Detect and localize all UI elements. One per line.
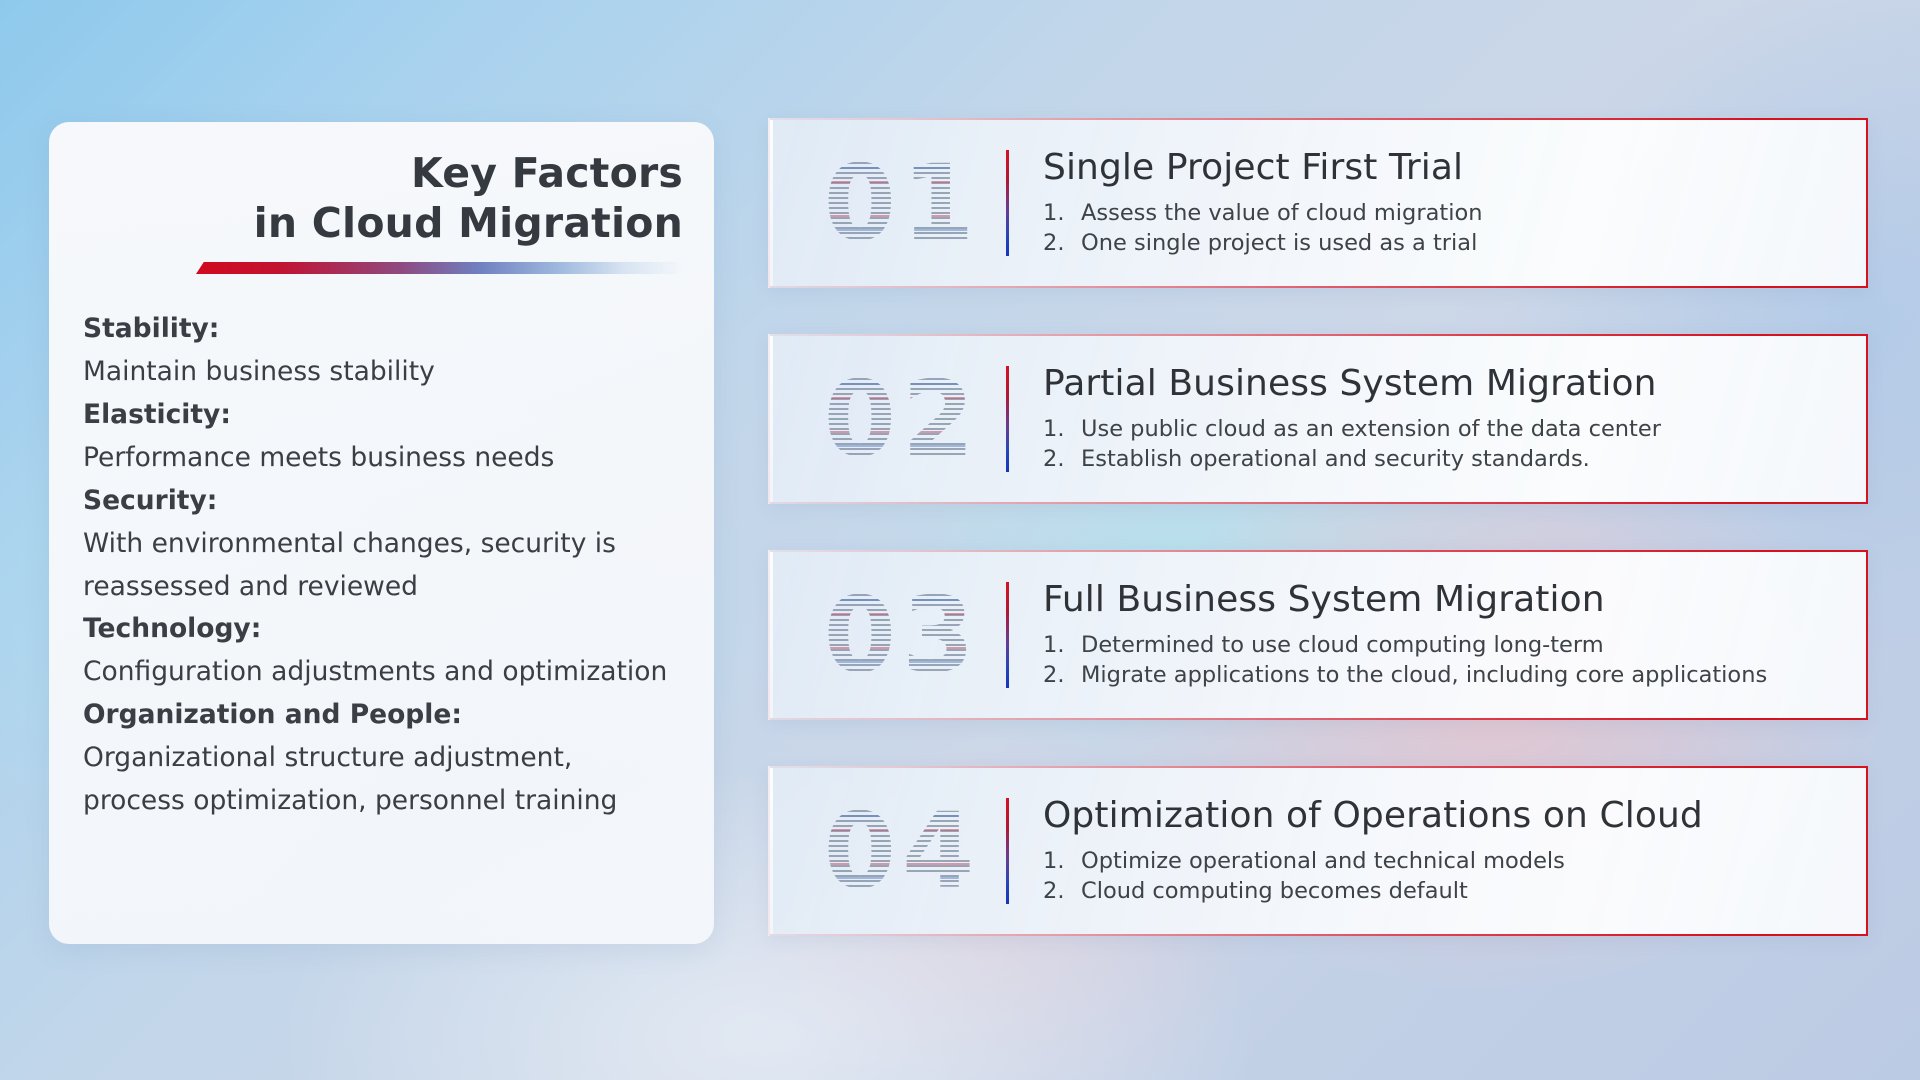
list-item: 1. Determined to use cloud computing lon…: [1043, 631, 1840, 661]
title-gradient-rule: [196, 262, 683, 274]
list-item: 2. Establish operational and security st…: [1043, 445, 1840, 475]
factor-label: Technology:: [83, 608, 680, 651]
factor-description: Configuration adjustments and optimizati…: [83, 651, 680, 694]
list-item-marker: 1.: [1043, 631, 1081, 661]
stage-content: Full Business System Migration 1. Determ…: [1043, 579, 1866, 691]
panel-title: Key Factors in Cloud Migration: [49, 122, 714, 248]
list-item-text: Determined to use cloud computing long-t…: [1081, 631, 1840, 661]
stage-title: Partial Business System Migration: [1043, 363, 1840, 405]
stage-number-02: 02 02 02: [804, 353, 1000, 485]
list-item-marker: 2.: [1043, 445, 1081, 475]
list-item: 2. One single project is used as a trial: [1043, 229, 1840, 259]
list-item-marker: 2.: [1043, 229, 1081, 259]
stage-divider-bar: [1006, 798, 1009, 904]
factor-item: Stability: Maintain business stability: [83, 308, 680, 394]
factor-item: Organization and People: Organizational …: [83, 694, 680, 823]
stage-content: Optimization of Operations on Cloud 1. O…: [1043, 795, 1866, 907]
stage-number-glyph-blue-accent: 04: [804, 785, 1000, 917]
list-item-text: Cloud computing becomes default: [1081, 877, 1840, 907]
stage-card-03[interactable]: 03 03 03 Full Business System Migration …: [768, 550, 1868, 720]
factor-description: Performance meets business needs: [83, 437, 680, 480]
list-item-text: Migrate applications to the cloud, inclu…: [1081, 661, 1840, 691]
factor-label: Organization and People:: [83, 694, 680, 737]
factor-description: Maintain business stability: [83, 351, 680, 394]
factors-list: Stability: Maintain business stability E…: [49, 274, 714, 823]
list-item: 1. Optimize operational and technical mo…: [1043, 847, 1840, 877]
stage-card-04[interactable]: 04 04 04 Optimization of Operations on C…: [768, 766, 1868, 936]
stage-title: Single Project First Trial: [1043, 147, 1840, 189]
list-item-marker: 1.: [1043, 847, 1081, 877]
factor-label: Elasticity:: [83, 394, 680, 437]
list-item: 2. Cloud computing becomes default: [1043, 877, 1840, 907]
list-item-marker: 2.: [1043, 877, 1081, 907]
stage-content: Partial Business System Migration 1. Use…: [1043, 363, 1866, 475]
stage-number-glyph-blue-accent: 03: [804, 569, 1000, 701]
list-item-marker: 2.: [1043, 661, 1081, 691]
list-item-text: Use public cloud as an extension of the …: [1081, 415, 1840, 445]
list-item: 1. Use public cloud as an extension of t…: [1043, 415, 1840, 445]
stage-divider-bar: [1006, 366, 1009, 472]
factor-label: Stability:: [83, 308, 680, 351]
stage-number-01: 01 01 01: [804, 137, 1000, 269]
migration-stages: 01 01 01 Single Project First Trial 1. A…: [768, 118, 1868, 982]
stage-bullet-list: 1. Optimize operational and technical mo…: [1043, 847, 1840, 907]
list-item: 1. Assess the value of cloud migration: [1043, 199, 1840, 229]
factor-item: Security: With environmental changes, se…: [83, 480, 680, 609]
panel-title-line-2: in Cloud Migration: [89, 198, 683, 248]
stage-content: Single Project First Trial 1. Assess the…: [1043, 147, 1866, 259]
stage-title: Optimization of Operations on Cloud: [1043, 795, 1840, 837]
list-item-text: One single project is used as a trial: [1081, 229, 1840, 259]
factor-item: Elasticity: Performance meets business n…: [83, 394, 680, 480]
factor-description: With environmental changes, security is …: [83, 523, 680, 609]
stage-bullet-list: 1. Determined to use cloud computing lon…: [1043, 631, 1840, 691]
stage-bullet-list: 1. Assess the value of cloud migration 2…: [1043, 199, 1840, 259]
list-item: 2. Migrate applications to the cloud, in…: [1043, 661, 1840, 691]
list-item-text: Establish operational and security stand…: [1081, 445, 1840, 475]
list-item-marker: 1.: [1043, 199, 1081, 229]
stage-card-01[interactable]: 01 01 01 Single Project First Trial 1. A…: [768, 118, 1868, 288]
list-item-text: Assess the value of cloud migration: [1081, 199, 1840, 229]
factor-label: Security:: [83, 480, 680, 523]
factor-description: Organizational structure adjustment, pro…: [83, 737, 680, 823]
key-factors-panel: Key Factors in Cloud Migration Stability…: [49, 122, 714, 944]
list-item-marker: 1.: [1043, 415, 1081, 445]
stage-bullet-list: 1. Use public cloud as an extension of t…: [1043, 415, 1840, 475]
stage-number-glyph-blue-accent: 01: [804, 137, 1000, 269]
panel-title-line-1: Key Factors: [411, 149, 683, 197]
stage-number-glyph-blue-accent: 02: [804, 353, 1000, 485]
stage-divider-bar: [1006, 150, 1009, 256]
stage-card-02[interactable]: 02 02 02 Partial Business System Migrati…: [768, 334, 1868, 504]
factor-item: Technology: Configuration adjustments an…: [83, 608, 680, 694]
stage-divider-bar: [1006, 582, 1009, 688]
stage-title: Full Business System Migration: [1043, 579, 1840, 621]
list-item-text: Optimize operational and technical model…: [1081, 847, 1840, 877]
stage-number-03: 03 03 03: [804, 569, 1000, 701]
stage-number-04: 04 04 04: [804, 785, 1000, 917]
